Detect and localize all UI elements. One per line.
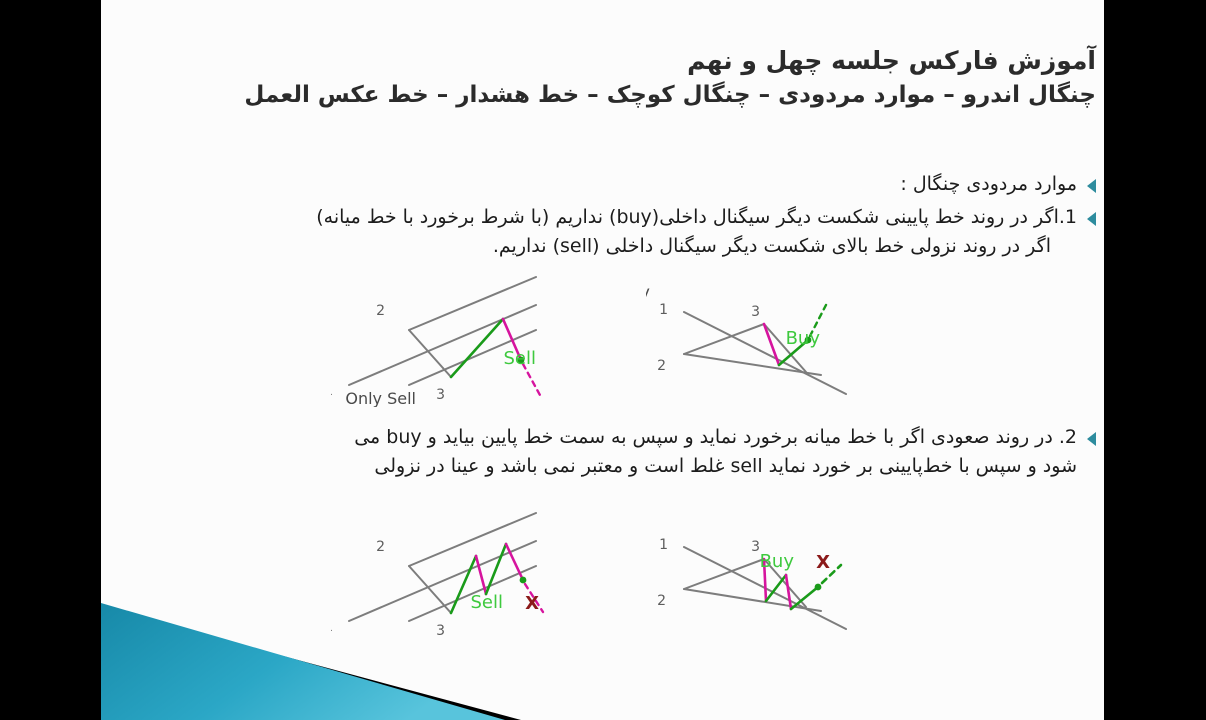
bullet-item-1-body: 1.اگر در روند خط پایینی شکست دیگر سیگنال… [316,203,1077,261]
point-label-1: 1 [659,302,668,318]
pitchfork-lines [349,513,536,621]
slide-title: آموزش فارکس جلسه چهل و نهم چنگال اندرو –… [144,44,1104,112]
point-label-3: 3 [751,304,760,320]
slide-stage: آموزش فارکس جلسه چهل و نهم چنگال اندرو –… [0,0,1206,720]
diagram-buy-x: 1 2 3 Buy X [646,525,896,655]
point-label-3: 3 [436,623,445,639]
triangle-bullet-icon [1087,212,1096,226]
invalid-mark-x: X [816,552,830,573]
bullet-item-1-line-1: 1.اگر در روند خط پایینی شکست دیگر سیگنال… [316,203,1077,232]
point-label-1: 1 [659,537,668,553]
bullet-item-2-body: 2. در روند صعودی اگر با خط میانه برخورد … [354,423,1077,481]
point-label-2: 2 [657,593,666,609]
diagram-sell-x: 2 3 1 Sell X [331,508,591,643]
diagram-caption: Only Sell [345,389,416,407]
title-line-1: آموزش فارکس جلسه چهل و نهم [144,44,1104,78]
diagram-only-buy: Only Buy 1 2 3 Buy [646,272,896,402]
bullet-main-text: موارد مردودی چنگال : [900,170,1077,199]
bullet-main: موارد مردودی چنگال : [796,170,1096,199]
point-label-2: 2 [376,303,385,319]
diagram-caption: Only Buy [646,283,650,303]
signal-dot [520,577,527,584]
point-label-1: 1 [331,619,333,635]
signal-label-buy: Buy [760,551,795,572]
diagram-only-sell: 2 3 1 Sell Only Sell [331,272,591,407]
bullet-item-1-line-2: اگر در روند نزولی خط بالای شکست دیگر سیگ… [316,232,1077,261]
point-label-1: 1 [331,383,333,399]
bullet-item-2-line-2: شود و سپس با خط‌پایینی بر خورد نماید sel… [354,452,1077,481]
signal-label-sell: Sell [470,592,503,613]
invalid-mark-x: X [525,593,539,614]
triangle-bullet-icon [1087,179,1096,193]
letterbox-left [0,0,101,720]
title-line-2: چنگال اندرو – موارد مردودی – چنگال کوچک … [144,78,1104,112]
bullet-item-2: 2. در روند صعودی اگر با خط میانه برخورد … [196,423,1096,481]
signal-label-buy: Buy [786,328,821,349]
bullet-item-1: 1.اگر در روند خط پایینی شکست دیگر سیگنال… [206,203,1096,261]
signal-dot [815,584,822,591]
bullet-item-2-line-1: 2. در روند صعودی اگر با خط میانه برخورد … [354,423,1077,452]
letterbox-right [1104,0,1206,720]
point-label-2: 2 [376,539,385,555]
point-label-3: 3 [436,387,445,403]
triangle-bullet-icon [1087,432,1096,446]
slide-canvas: آموزش فارکس جلسه چهل و نهم چنگال اندرو –… [101,0,1104,720]
signal-label-sell: Sell [503,348,536,369]
point-label-2: 2 [657,358,666,374]
